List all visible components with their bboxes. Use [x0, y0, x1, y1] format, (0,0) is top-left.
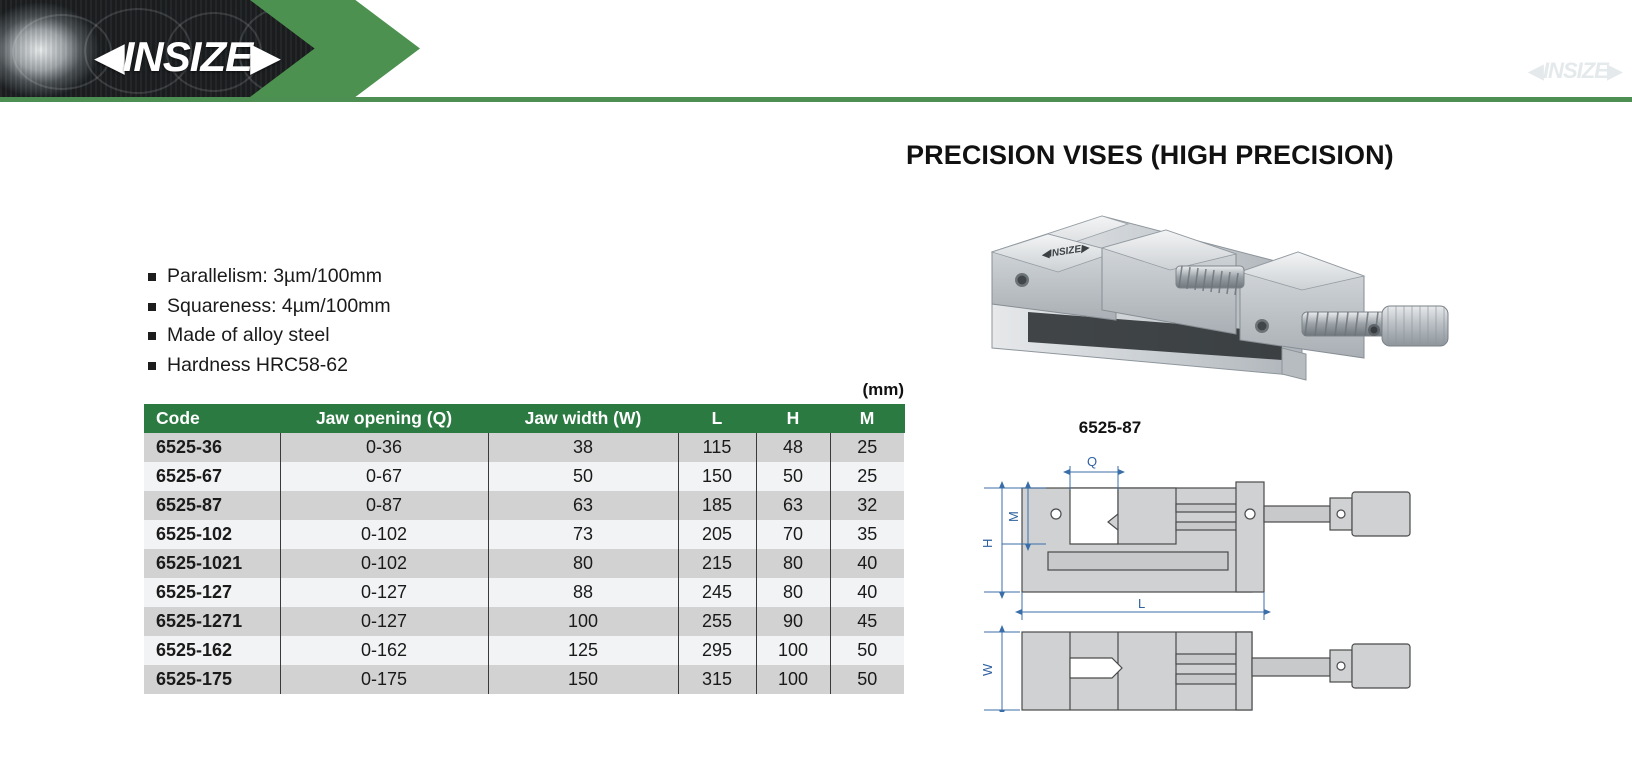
column-header-jaw-opening: Jaw opening (Q)	[280, 404, 488, 433]
cell-jaw-width: 100	[488, 607, 678, 636]
column-header-code: Code	[144, 404, 280, 433]
table-row: 6525-102 0-102 73 205 70 35	[144, 520, 904, 549]
logo-wordmark: INSIZE	[123, 36, 252, 78]
page-header: ◀INSIZE▶ ◀INSIZE▶	[0, 0, 1632, 104]
technical-drawing-svg: .pt{fill:#cfd1d3;stroke:#4a4a4a;stroke-w…	[950, 452, 1490, 712]
watermark-left-arrow-icon: ◀	[1528, 61, 1544, 82]
page-title: PRECISION VISES (HIGH PRECISION)	[906, 140, 1606, 171]
cell-h: 48	[756, 433, 830, 462]
cell-m: 50	[830, 636, 904, 665]
cell-m: 25	[830, 433, 904, 462]
cell-h: 50	[756, 462, 830, 491]
cell-m: 45	[830, 607, 904, 636]
cell-jaw-width: 150	[488, 665, 678, 694]
feature-item: Squareness: 4µm/100mm	[148, 294, 668, 319]
cell-l: 205	[678, 520, 756, 549]
dimension-label-h: H	[980, 539, 995, 548]
cell-jaw-width: 88	[488, 578, 678, 607]
cell-jaw-opening: 0-127	[280, 607, 488, 636]
table-row: 6525-1271 0-127 100 255 90 45	[144, 607, 904, 636]
cell-h: 80	[756, 578, 830, 607]
cell-jaw-opening: 0-67	[280, 462, 488, 491]
cell-jaw-width: 38	[488, 433, 678, 462]
column-header-m: M	[830, 404, 904, 433]
cell-jaw-opening: 0-102	[280, 520, 488, 549]
table-row: 6525-162 0-162 125 295 100 50	[144, 636, 904, 665]
cell-m: 40	[830, 549, 904, 578]
cell-jaw-width: 125	[488, 636, 678, 665]
product-photo-caption: 6525-87	[930, 418, 1290, 438]
watermark-wordmark: INSIZE	[1543, 60, 1608, 82]
cell-jaw-opening: 0-175	[280, 665, 488, 694]
cell-h: 90	[756, 607, 830, 636]
feature-list: Parallelism: 3µm/100mm Squareness: 4µm/1…	[148, 264, 668, 382]
cell-h: 100	[756, 665, 830, 694]
cell-code: 6525-67	[144, 462, 280, 491]
cell-m: 32	[830, 491, 904, 520]
logo-left-arrow-icon: ◀	[94, 37, 125, 77]
feature-text: Hardness HRC58-62	[167, 353, 348, 378]
bullet-square-icon	[148, 303, 156, 311]
table-row: 6525-36 0-36 38 115 48 25	[144, 433, 904, 462]
dimension-label-q: Q	[1087, 454, 1097, 469]
column-header-h: H	[756, 404, 830, 433]
cell-code: 6525-127	[144, 578, 280, 607]
cell-h: 63	[756, 491, 830, 520]
feature-item: Made of alloy steel	[148, 323, 668, 348]
cell-m: 50	[830, 665, 904, 694]
specification-table: Code Jaw opening (Q) Jaw width (W) L H M…	[144, 404, 905, 694]
cell-jaw-opening: 0-102	[280, 549, 488, 578]
cell-code: 6525-1021	[144, 549, 280, 578]
cell-l: 150	[678, 462, 756, 491]
cell-jaw-opening: 0-127	[280, 578, 488, 607]
bullet-square-icon	[148, 332, 156, 340]
table-row: 6525-67 0-67 50 150 50 25	[144, 462, 904, 491]
cell-code: 6525-87	[144, 491, 280, 520]
cell-jaw-opening: 0-162	[280, 636, 488, 665]
cell-jaw-opening: 0-87	[280, 491, 488, 520]
cell-h: 70	[756, 520, 830, 549]
dimension-label-w: W	[980, 663, 995, 676]
column-header-l: L	[678, 404, 756, 433]
bullet-square-icon	[148, 273, 156, 281]
table-body: 6525-36 0-36 38 115 48 25 6525-67 0-67 5…	[144, 433, 904, 694]
cell-code: 6525-102	[144, 520, 280, 549]
cell-l: 295	[678, 636, 756, 665]
cell-l: 215	[678, 549, 756, 578]
column-header-jaw-width: Jaw width (W)	[488, 404, 678, 433]
specification-table-container: (mm) Code Jaw opening (Q) Jaw width (W) …	[144, 380, 904, 694]
table-row: 6525-175 0-175 150 315 100 50	[144, 665, 904, 694]
insize-logo: ◀INSIZE▶	[96, 36, 279, 78]
feature-text: Parallelism: 3µm/100mm	[167, 264, 382, 289]
cell-jaw-width: 73	[488, 520, 678, 549]
cell-h: 100	[756, 636, 830, 665]
vise-photo-svg: ◀INSIZE▶	[930, 180, 1490, 415]
cell-code: 6525-162	[144, 636, 280, 665]
logo-right-arrow-icon: ▶	[250, 37, 281, 77]
table-row: 6525-1021 0-102 80 215 80 40	[144, 549, 904, 578]
feature-text: Made of alloy steel	[167, 323, 330, 348]
table-row: 6525-87 0-87 63 185 63 32	[144, 491, 904, 520]
insize-watermark: ◀INSIZE▶	[1529, 60, 1622, 82]
feature-item: Hardness HRC58-62	[148, 353, 668, 378]
table-header-row: Code Jaw opening (Q) Jaw width (W) L H M	[144, 404, 904, 433]
watermark-right-arrow-icon: ▶	[1607, 61, 1623, 82]
dimension-label-l: L	[1138, 596, 1145, 611]
cell-h: 80	[756, 549, 830, 578]
cell-jaw-width: 63	[488, 491, 678, 520]
cell-code: 6525-175	[144, 665, 280, 694]
cell-code: 6525-36	[144, 433, 280, 462]
cell-l: 115	[678, 433, 756, 462]
product-photo: ◀INSIZE▶	[930, 180, 1490, 415]
feature-item: Parallelism: 3µm/100mm	[148, 264, 668, 289]
cell-l: 255	[678, 607, 756, 636]
cell-code: 6525-1271	[144, 607, 280, 636]
cell-m: 25	[830, 462, 904, 491]
unit-label: (mm)	[144, 380, 904, 400]
feature-text: Squareness: 4µm/100mm	[167, 294, 391, 319]
cell-m: 40	[830, 578, 904, 607]
cell-jaw-opening: 0-36	[280, 433, 488, 462]
cell-l: 315	[678, 665, 756, 694]
table-row: 6525-127 0-127 88 245 80 40	[144, 578, 904, 607]
header-accent-rule	[0, 97, 1632, 102]
dimension-label-m: M	[1006, 511, 1021, 522]
cell-l: 185	[678, 491, 756, 520]
technical-drawing: .pt{fill:#cfd1d3;stroke:#4a4a4a;stroke-w…	[950, 452, 1490, 712]
cell-m: 35	[830, 520, 904, 549]
cell-jaw-width: 80	[488, 549, 678, 578]
bullet-square-icon	[148, 362, 156, 370]
cell-jaw-width: 50	[488, 462, 678, 491]
cell-l: 245	[678, 578, 756, 607]
